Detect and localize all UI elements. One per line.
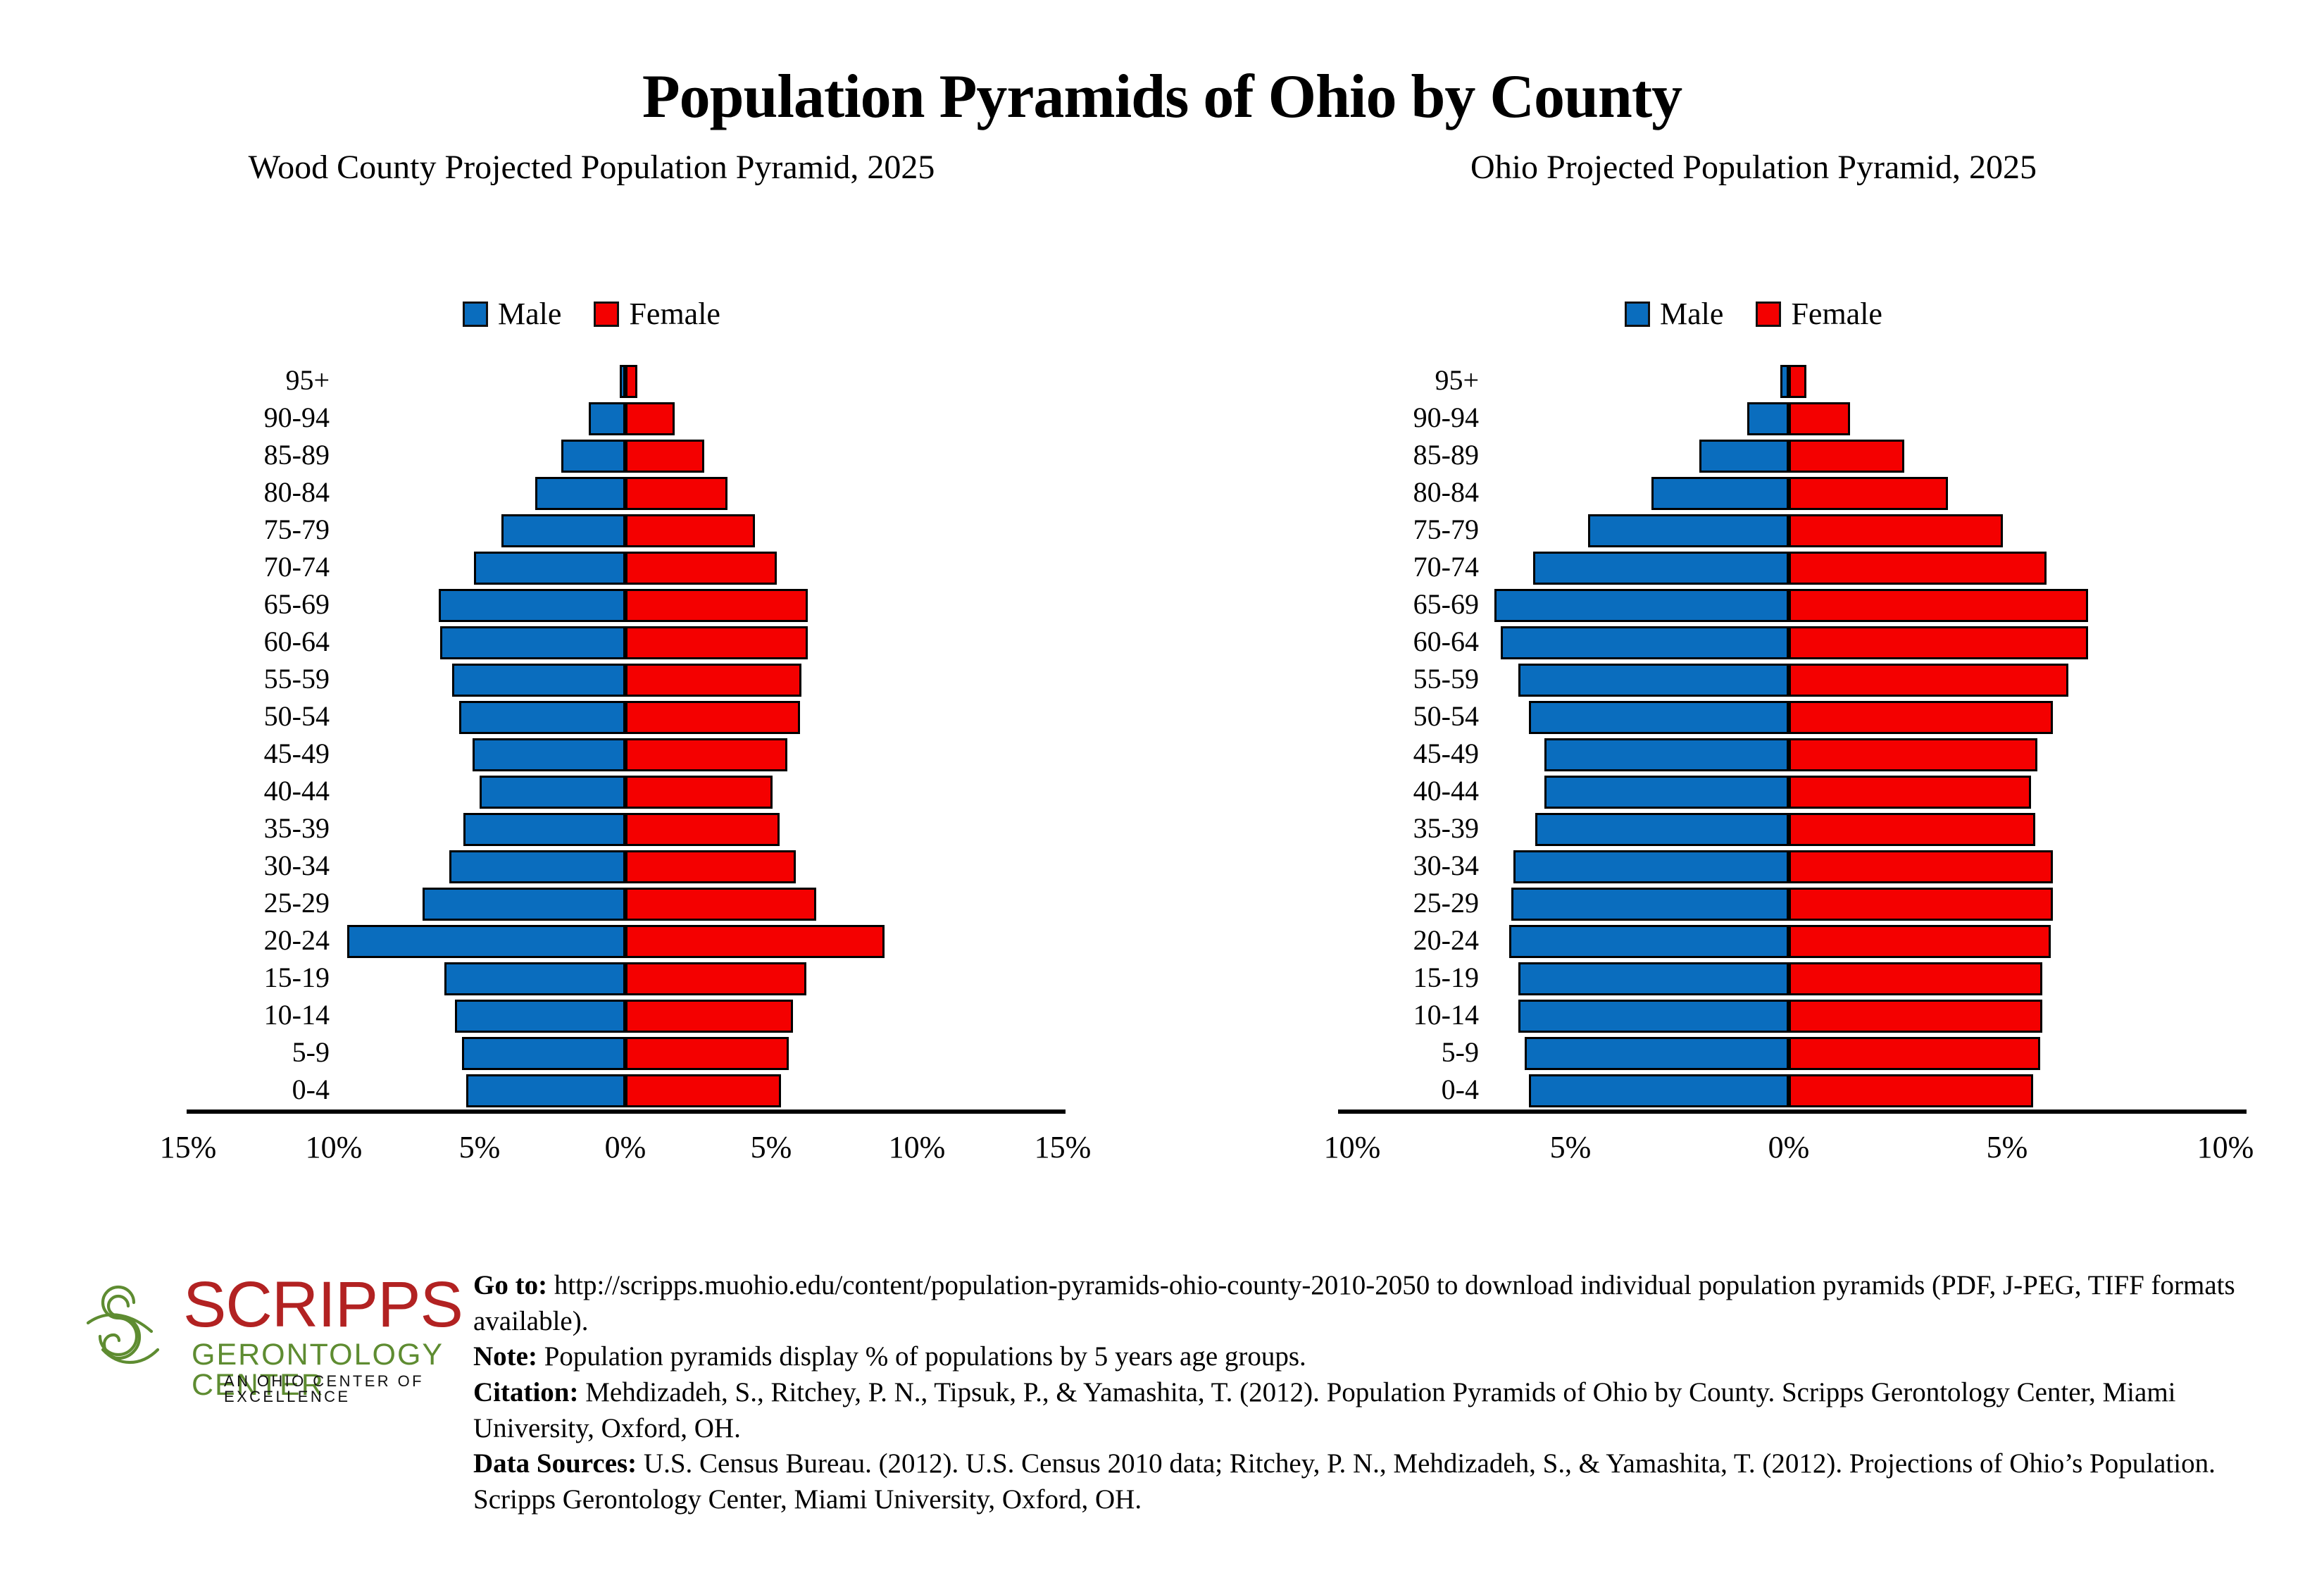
bar-male [1535,813,1789,846]
bar-male [1494,589,1789,622]
bar-male [449,850,625,883]
bar-male [1511,888,1789,921]
footer-goto-text: http://scripps.muohio.edu/content/popula… [473,1270,2235,1336]
x-tick-label: 5% [1987,1129,2028,1165]
footer-citation-text: Mehdizadeh, S., Ritchey, P. N., Tipsuk, … [473,1377,2176,1443]
age-group-label: 95+ [196,366,330,394]
age-group-label: 10-14 [1345,1001,1479,1029]
age-group-label: 75-79 [196,516,330,544]
age-group-label: 60-64 [1345,628,1479,656]
bar-male [1529,701,1789,734]
bar-female [625,962,806,995]
bar-female [625,664,801,697]
age-group-label: 60-64 [196,628,330,656]
age-group-label: 55-59 [1345,665,1479,693]
legend-item-female: Female [1756,296,1882,332]
bar-male [1529,1074,1789,1107]
bar-female [625,738,787,771]
left-bar-rows: 95+90-9485-8980-8475-7970-7465-6960-6455… [42,363,1141,1109]
bar-male [455,1000,625,1033]
bar-female [1789,962,2042,995]
bar-female [1789,440,1904,473]
left-x-axis [187,1109,1066,1114]
male-color-swatch-icon [1625,302,1650,327]
age-group-label: 20-24 [1345,926,1479,955]
age-group-label: 70-74 [1345,553,1479,581]
right-bar-rows: 95+90-9485-8980-8475-7970-7465-6960-6455… [1211,363,2296,1109]
x-tick-label: 5% [1550,1129,1592,1165]
male-color-swatch-icon [463,302,488,327]
age-group-label: 10-14 [196,1001,330,1029]
footer-citation: Citation: Mehdizadeh, S., Ritchey, P. N.… [473,1375,2290,1446]
x-tick-label: 15% [160,1129,217,1165]
bar-female [625,477,727,510]
age-group-label: 15-19 [196,964,330,992]
left-plot-area: 95+90-9485-8980-8475-7970-7465-6960-6455… [42,363,1141,1141]
age-group-label: 75-79 [1345,516,1479,544]
bar-female [625,850,796,883]
age-group-label: 85-89 [1345,441,1479,469]
left-chart-legend: Male Female [42,296,1141,332]
bar-female [1789,925,2051,958]
bar-female [625,626,808,659]
bar-male [444,962,625,995]
bar-male [561,440,625,473]
x-tick-label: 10% [2197,1129,2254,1165]
bar-male [463,813,625,846]
bar-male [1747,402,1789,435]
bar-female [625,440,704,473]
age-group-label: 30-34 [1345,852,1479,880]
bar-female [625,1074,781,1107]
bar-male [1525,1037,1789,1070]
bar-male [1544,738,1789,771]
bar-male [466,1074,625,1107]
bar-male [473,738,625,771]
bar-male [1513,850,1789,883]
bar-female [1789,402,1850,435]
age-group-label: 30-34 [196,852,330,880]
bar-male [1518,962,1789,995]
bar-female [625,402,675,435]
age-group-label: 0-4 [196,1076,330,1104]
bar-female [625,776,773,809]
bar-male [462,1037,625,1070]
footer: SCRIPPS GERONTOLOGY CENTER AN OHIO CENTE… [0,1268,2324,1585]
bar-male [1699,440,1789,473]
bar-male [1518,1000,1789,1033]
age-group-label: 40-44 [1345,777,1479,805]
bar-female [1789,477,1948,510]
x-tick-label: 15% [1035,1129,1092,1165]
age-group-label: 35-39 [196,814,330,843]
age-group-label: 65-69 [1345,590,1479,619]
footer-sources-text: U.S. Census Bureau. (2012). U.S. Census … [473,1448,2216,1515]
age-group-label: 80-84 [196,478,330,506]
x-tick-label: 5% [459,1129,501,1165]
age-group-label: 45-49 [196,740,330,768]
bar-male [1780,365,1789,398]
bar-male [1501,626,1789,659]
x-tick-label: 0% [605,1129,646,1165]
bar-female [1789,664,2068,697]
footer-goto-label: Go to: [473,1270,547,1300]
bar-female [625,589,808,622]
bar-female [1789,850,2053,883]
legend-item-female: Female [594,296,720,332]
bar-male [439,589,625,622]
bar-male [1518,664,1789,697]
x-tick-label: 0% [1768,1129,1810,1165]
bar-female [625,1037,789,1070]
right-chart-legend: Male Female [1211,296,2296,332]
age-group-label: 95+ [1345,366,1479,394]
bar-male [535,477,625,510]
footer-note: Note: Population pyramids display % of p… [473,1339,2290,1375]
logo-wordmark: SCRIPPS [183,1272,463,1337]
bar-male [1651,477,1789,510]
right-chart-title: Ohio Projected Population Pyramid, 2025 [1225,148,2282,187]
bar-female [625,888,816,921]
age-group-label: 40-44 [196,777,330,805]
female-color-swatch-icon [1756,302,1781,327]
bar-female [625,1000,793,1033]
bar-male [423,888,625,921]
age-group-label: 55-59 [196,665,330,693]
age-group-label: 5-9 [1345,1038,1479,1067]
age-group-label: 80-84 [1345,478,1479,506]
bar-female [1789,1074,2033,1107]
bar-female [1789,1037,2040,1070]
age-group-label: 85-89 [196,441,330,469]
x-tick-label: 5% [751,1129,792,1165]
footer-note-text: Population pyramids display % of populat… [537,1341,1306,1372]
right-x-axis [1338,1109,2247,1114]
x-tick-label: 10% [306,1129,363,1165]
age-group-label: 5-9 [196,1038,330,1067]
bar-female [625,813,780,846]
footer-citation-label: Citation: [473,1377,579,1407]
bar-female [1789,552,2047,585]
bar-female [625,701,800,734]
bar-female [1789,1000,2042,1033]
bar-female [625,365,637,398]
age-group-label: 20-24 [196,926,330,955]
age-group-label: 35-39 [1345,814,1479,843]
bar-female [625,514,755,547]
footer-sources: Data Sources: U.S. Census Bureau. (2012)… [473,1446,2290,1517]
age-group-label: 90-94 [1345,404,1479,432]
age-group-label: 25-29 [1345,889,1479,917]
bar-male [589,402,625,435]
footer-sources-label: Data Sources: [473,1448,637,1479]
bar-male [1533,552,1789,585]
bar-male [1544,776,1789,809]
x-tick-label: 10% [1324,1129,1381,1165]
legend-item-male: Male [1625,296,1723,332]
female-color-swatch-icon [594,302,619,327]
age-group-label: 0-4 [1345,1076,1479,1104]
wood-county-pyramid-chart: Male Female 95+90-9485-8980-8475-7970-74… [42,268,1141,1212]
footer-notes: Go to: http://scripps.muohio.edu/content… [473,1268,2290,1518]
bar-male [1509,925,1789,958]
bar-female [1789,589,2088,622]
bar-male [459,701,625,734]
scripps-swirl-icon [85,1279,176,1385]
bar-male [440,626,625,659]
age-group-label: 50-54 [1345,702,1479,731]
age-group-label: 90-94 [196,404,330,432]
scripps-logo: SCRIPPS GERONTOLOGY CENTER AN OHIO CENTE… [85,1275,451,1402]
age-group-label: 70-74 [196,553,330,581]
bar-female [1789,888,2053,921]
bar-male [347,925,625,958]
bar-female [1789,701,2053,734]
age-group-label: 50-54 [196,702,330,731]
bar-female [1789,365,1806,398]
page-title: Population Pyramids of Ohio by County [0,61,2324,132]
age-group-label: 65-69 [196,590,330,619]
bar-male [452,664,625,697]
bar-female [1789,813,2035,846]
bar-female [1789,626,2088,659]
legend-label-male: Male [1660,296,1723,332]
bar-male [620,365,625,398]
age-group-label: 15-19 [1345,964,1479,992]
bar-female [1789,514,2003,547]
footer-note-label: Note: [473,1341,537,1372]
bar-female [625,925,885,958]
bar-female [1789,776,2031,809]
bar-male [480,776,625,809]
ohio-pyramid-chart: Male Female 95+90-9485-8980-8475-7970-74… [1211,268,2296,1212]
left-chart-title: Wood County Projected Population Pyramid… [56,148,1127,187]
legend-label-female: Female [1791,296,1882,332]
logo-tagline: AN OHIO CENTER OF EXCELLENCE [224,1374,451,1405]
bar-female [625,552,777,585]
bar-male [1588,514,1789,547]
age-group-label: 45-49 [1345,740,1479,768]
bar-male [501,514,625,547]
legend-label-male: Male [498,296,561,332]
legend-item-male: Male [463,296,561,332]
x-tick-label: 10% [889,1129,946,1165]
age-group-label: 25-29 [196,889,330,917]
bar-female [1789,738,2037,771]
bar-male [474,552,625,585]
right-plot-area: 95+90-9485-8980-8475-7970-7465-6960-6455… [1211,363,2296,1141]
legend-label-female: Female [629,296,720,332]
footer-goto: Go to: http://scripps.muohio.edu/content… [473,1268,2290,1339]
